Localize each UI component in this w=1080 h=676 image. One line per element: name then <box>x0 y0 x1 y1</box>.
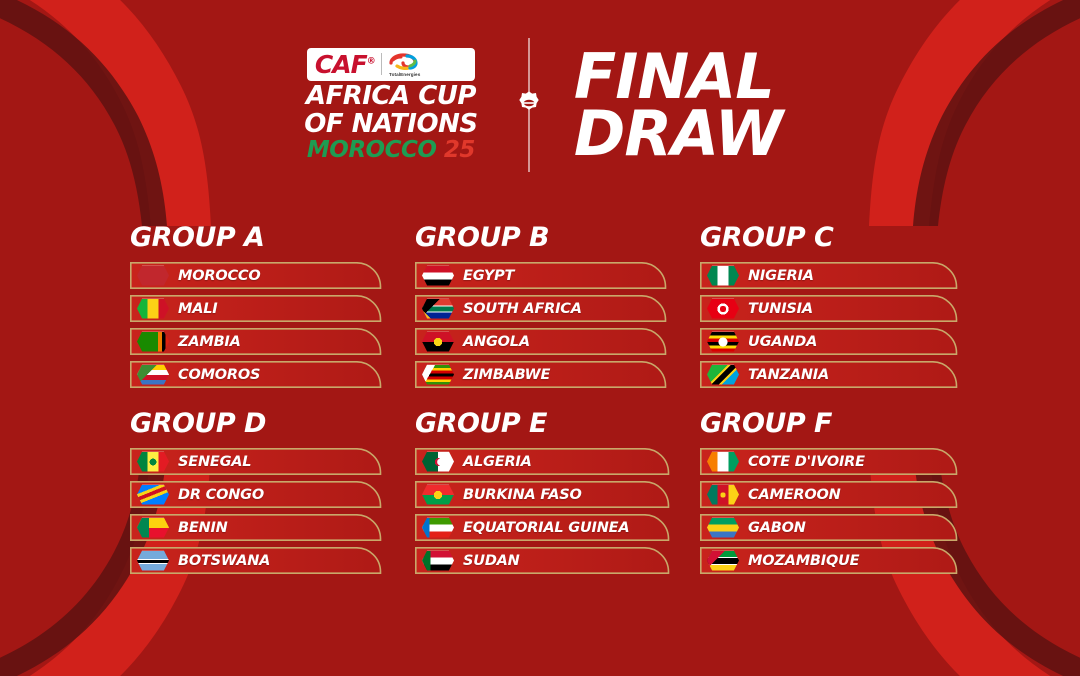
sudan-flag-icon <box>422 551 454 571</box>
team-name: COTE D'IVOIRE <box>748 454 865 470</box>
team-name: ANGOLA <box>463 334 530 350</box>
group-d-title: GROUP D <box>130 408 415 439</box>
team-row[interactable]: SENEGAL <box>130 448 382 475</box>
group-c-title: GROUP C <box>700 222 990 253</box>
host-and-year: MOROCCO 25 <box>307 138 475 162</box>
groups-grid: GROUP A MOROCCO MALI <box>130 222 990 594</box>
page-title: FINAL DRAW <box>574 48 782 162</box>
senegal-flag-icon <box>137 452 169 472</box>
team-row[interactable]: COTE D'IVOIRE <box>700 448 958 475</box>
team-name: SENEGAL <box>178 454 251 470</box>
algeria-flag-icon <box>422 452 454 472</box>
team-row[interactable]: NIGERIA <box>700 262 958 289</box>
team-row[interactable]: ALGERIA <box>415 448 670 475</box>
team-name: BURKINA FASO <box>463 487 582 503</box>
dr-congo-flag-icon <box>137 485 169 505</box>
team-row[interactable]: MALI <box>130 295 382 322</box>
group-d-team-list: SENEGAL DR CONGO BENIN <box>130 448 415 574</box>
zimbabwe-flag-icon <box>422 365 454 385</box>
mali-flag-icon <box>137 299 169 319</box>
team-name: ALGERIA <box>463 454 532 470</box>
team-name: CAMEROON <box>748 487 841 503</box>
octagon-ornament-icon <box>516 90 542 121</box>
botswana-flag-icon <box>137 551 169 571</box>
team-row[interactable]: ZIMBABWE <box>415 361 667 388</box>
team-row[interactable]: DR CONGO <box>130 481 382 508</box>
team-name: TUNISIA <box>748 301 813 317</box>
comoros-flag-icon <box>137 365 169 385</box>
header: CAF® TotalEnergies AFRICA CUP OF NATIONS… <box>0 30 1080 180</box>
header-divider <box>484 30 574 180</box>
group-a: GROUP A MOROCCO MALI <box>130 222 415 408</box>
team-name: MALI <box>178 301 218 317</box>
team-row[interactable]: SOUTH AFRICA <box>415 295 667 322</box>
team-row[interactable]: TUNISIA <box>700 295 958 322</box>
team-name: ZIMBABWE <box>463 367 550 383</box>
team-row[interactable]: BENIN <box>130 514 382 541</box>
tanzania-flag-icon <box>707 365 739 385</box>
group-b-title: GROUP B <box>415 222 700 253</box>
caf-sponsor-badge: CAF® TotalEnergies <box>307 48 475 81</box>
team-name: UGANDA <box>748 334 817 350</box>
team-name: DR CONGO <box>178 487 264 503</box>
team-row[interactable]: EGYPT <box>415 262 667 289</box>
group-f-title: GROUP F <box>700 408 990 439</box>
team-row[interactable]: UGANDA <box>700 328 958 355</box>
zambia-flag-icon <box>137 332 169 352</box>
team-name: MOZAMBIQUE <box>748 553 859 569</box>
team-name: TANZANIA <box>748 367 829 383</box>
team-row[interactable]: GABON <box>700 514 958 541</box>
uganda-flag-icon <box>707 332 739 352</box>
group-b-team-list: EGYPT SOUTH AFRICA ANGOLA <box>415 262 700 388</box>
south-africa-flag-icon <box>422 299 454 319</box>
edition-year: 25 <box>444 137 475 163</box>
group-e-title: GROUP E <box>415 408 700 439</box>
team-name: COMOROS <box>178 367 260 383</box>
group-b: GROUP B EGYPT SOUTH AFRICA <box>415 222 700 408</box>
afcon-logo: CAF® TotalEnergies AFRICA CUP OF NATIONS… <box>298 48 484 162</box>
team-name: EGYPT <box>463 268 514 284</box>
team-row[interactable]: SUDAN <box>415 547 670 574</box>
group-a-title: GROUP A <box>130 222 415 253</box>
group-e-team-list: ALGERIA BURKINA FASO EQUATORIAL GUINEA <box>415 448 700 574</box>
group-f-team-list: COTE D'IVOIRE CAMEROON GABON <box>700 448 990 574</box>
nigeria-flag-icon <box>707 266 739 286</box>
team-name: EQUATORIAL GUINEA <box>463 520 629 536</box>
team-row[interactable]: ZAMBIA <box>130 328 382 355</box>
cameroon-flag-icon <box>707 485 739 505</box>
final-draw-graphic: CAF® TotalEnergies AFRICA CUP OF NATIONS… <box>0 0 1080 676</box>
team-name: GABON <box>748 520 806 536</box>
mozambique-flag-icon <box>707 551 739 571</box>
team-name: MOROCCO <box>178 268 260 284</box>
team-row[interactable]: BURKINA FASO <box>415 481 670 508</box>
equatorial-guinea-flag-icon <box>422 518 454 538</box>
cote-divoire-flag-icon <box>707 452 739 472</box>
group-c: GROUP C NIGERIA TUNISIA <box>700 222 990 408</box>
team-name: SUDAN <box>463 553 520 569</box>
title-line-2: DRAW <box>574 105 782 162</box>
benin-flag-icon <box>137 518 169 538</box>
group-d: GROUP D SENEGAL DR CONGO <box>130 408 415 594</box>
group-c-team-list: NIGERIA TUNISIA UGANDA <box>700 262 990 388</box>
group-e: GROUP E ALGERIA BURKINA FASO <box>415 408 700 594</box>
caf-wordmark: CAF® <box>315 52 375 77</box>
group-a-team-list: MOROCCO MALI ZAMBIA <box>130 262 415 388</box>
team-name: BOTSWANA <box>178 553 270 569</box>
morocco-flag-icon <box>137 266 169 286</box>
team-row[interactable]: EQUATORIAL GUINEA <box>415 514 670 541</box>
team-name: NIGERIA <box>748 268 814 284</box>
team-row[interactable]: MOROCCO <box>130 262 382 289</box>
team-row[interactable]: BOTSWANA <box>130 547 382 574</box>
team-name: SOUTH AFRICA <box>463 301 582 317</box>
competition-name-line1: AFRICA CUP <box>306 84 476 109</box>
logo-divider <box>381 53 382 75</box>
burkina-faso-flag-icon <box>422 485 454 505</box>
host-country: MOROCCO <box>307 137 437 163</box>
team-row[interactable]: COMOROS <box>130 361 382 388</box>
team-name: ZAMBIA <box>178 334 241 350</box>
gabon-flag-icon <box>707 518 739 538</box>
team-row[interactable]: CAMEROON <box>700 481 958 508</box>
egypt-flag-icon <box>422 266 454 286</box>
team-row[interactable]: ANGOLA <box>415 328 667 355</box>
tunisia-flag-icon <box>707 299 739 319</box>
totalenergies-mark-icon <box>388 52 422 71</box>
group-f: GROUP F COTE D'IVOIRE CAMEROON <box>700 408 990 594</box>
totalenergies-wordmark: TotalEnergies <box>389 72 420 77</box>
team-row[interactable]: MOZAMBIQUE <box>700 547 958 574</box>
registered-trademark-icon: ® <box>367 57 375 67</box>
team-row[interactable]: TANZANIA <box>700 361 958 388</box>
angola-flag-icon <box>422 332 454 352</box>
team-name: BENIN <box>178 520 228 536</box>
competition-name-line2: OF NATIONS <box>304 112 477 137</box>
totalenergies-logo: TotalEnergies <box>388 52 422 77</box>
